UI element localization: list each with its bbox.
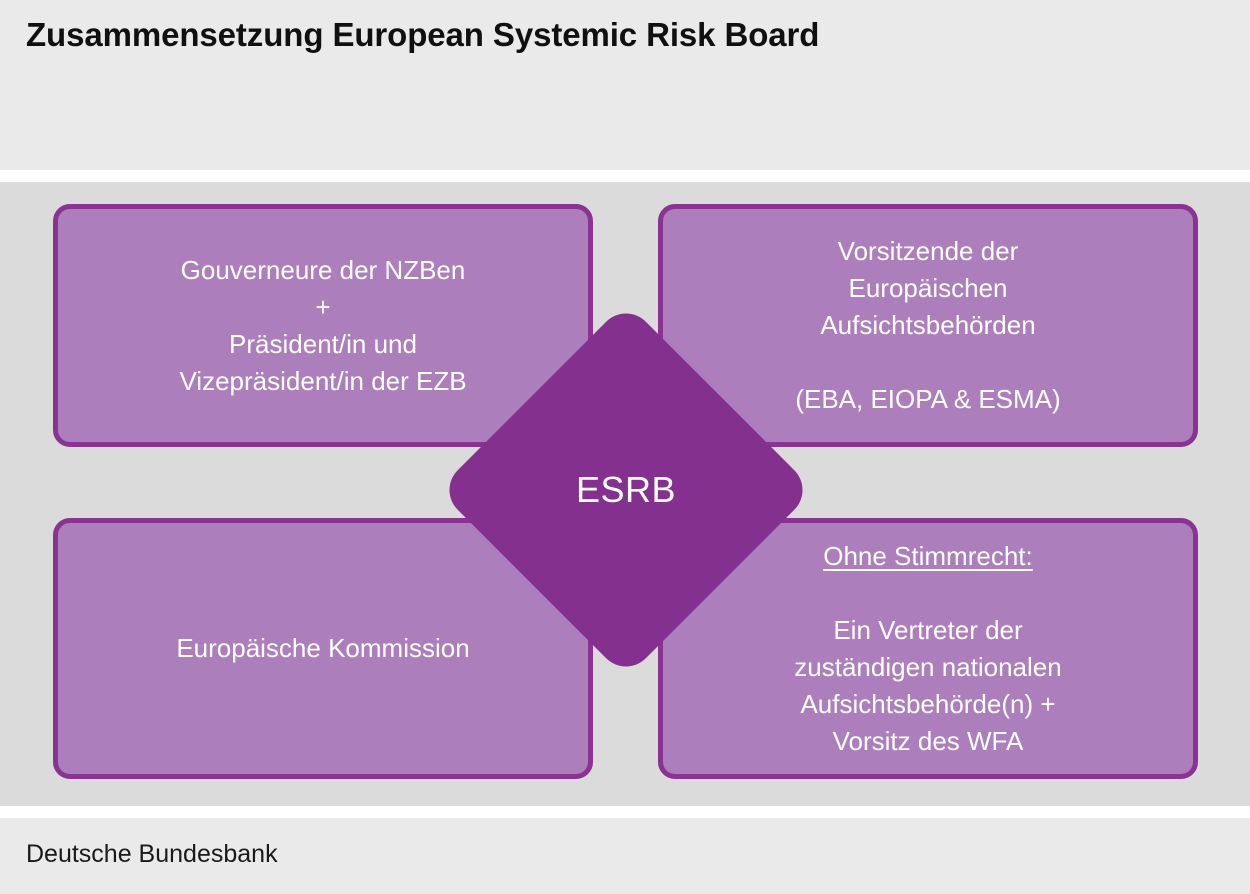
source-label: Deutsche Bundesbank <box>26 840 278 869</box>
node-box-esa-chairs[interactable]: Vorsitzende derEuropäischenAufsichtsbehö… <box>658 204 1198 447</box>
node-line-spacer <box>679 344 1177 381</box>
node-line: + <box>74 289 572 326</box>
node-line: Ohne Stimmrecht: <box>679 538 1177 575</box>
diagram-page: Zusammensetzung European Systemic Risk B… <box>0 0 1250 894</box>
node-text-non-voting: Ohne Stimmrecht:Ein Vertreter derzuständ… <box>663 538 1193 760</box>
page-title: Zusammensetzung European Systemic Risk B… <box>26 16 819 54</box>
node-text-governors: Gouverneure der NZBen+Präsident/in undVi… <box>58 252 588 400</box>
node-line: Gouverneure der NZBen <box>74 252 572 289</box>
node-box-commission[interactable]: Europäische Kommission <box>53 518 593 779</box>
node-line: (EBA, EIOPA & ESMA) <box>679 381 1177 418</box>
node-line: zuständigen nationalen <box>679 649 1177 686</box>
node-text-commission: Europäische Kommission <box>58 630 588 667</box>
node-line: Europäischen <box>679 270 1177 307</box>
node-box-non-voting[interactable]: Ohne Stimmrecht:Ein Vertreter derzuständ… <box>658 518 1198 779</box>
node-line: Aufsichtsbehörden <box>679 307 1177 344</box>
node-box-governors[interactable]: Gouverneure der NZBen+Präsident/in undVi… <box>53 204 593 447</box>
node-line: Ein Vertreter der <box>679 612 1177 649</box>
node-line: Europäische Kommission <box>74 630 572 667</box>
diagram-panel: Gouverneure der NZBen+Präsident/in undVi… <box>0 182 1250 806</box>
footer-band: Deutsche Bundesbank <box>0 818 1250 894</box>
node-line-spacer <box>679 575 1177 612</box>
node-line: Präsident/in und <box>74 326 572 363</box>
node-line: Vizepräsident/in der EZB <box>74 363 572 400</box>
header-band: Zusammensetzung European Systemic Risk B… <box>0 0 1250 170</box>
node-line: Vorsitzende der <box>679 233 1177 270</box>
node-line: Aufsichtsbehörde(n) + <box>679 686 1177 723</box>
node-line: Vorsitz des WFA <box>679 723 1177 760</box>
node-text-esa-chairs: Vorsitzende derEuropäischenAufsichtsbehö… <box>663 233 1193 418</box>
